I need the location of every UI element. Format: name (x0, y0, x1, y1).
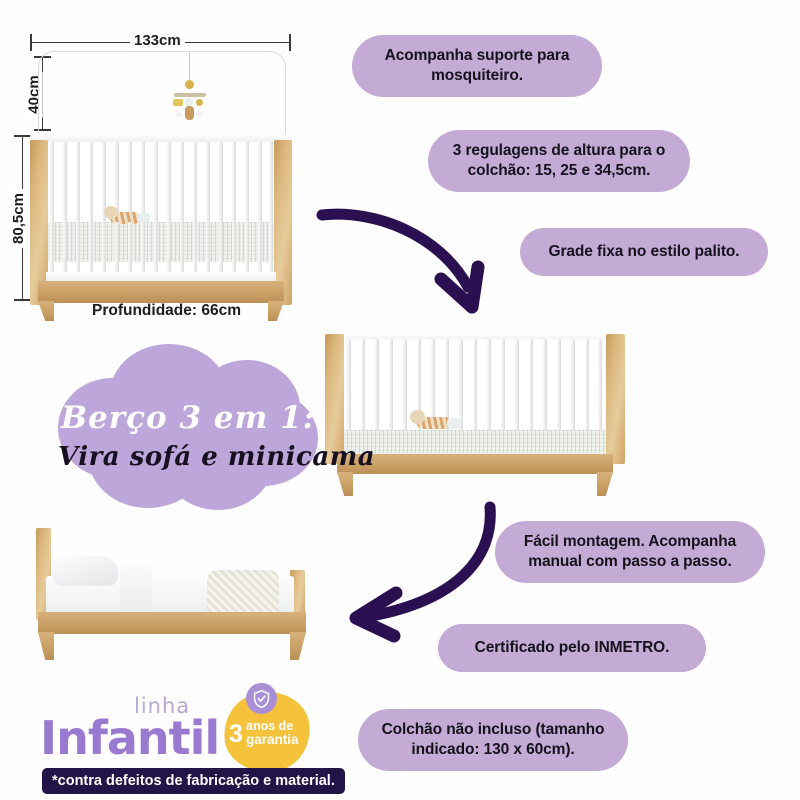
mosquito-net-frame (38, 51, 286, 136)
sofa-back-slats (344, 339, 606, 433)
sofa-base (337, 454, 613, 474)
feature-bubble-mattress-note[interactable]: Colchão não incluso (tamanho indicado: 1… (358, 709, 628, 771)
cloud-title-line1: Berço 3 em 1: (58, 400, 318, 436)
minibed-side-rail (38, 612, 306, 634)
arrow-crib-to-sofa (320, 195, 520, 320)
sofa-right-post (606, 334, 625, 464)
baby-mobile (170, 52, 210, 124)
feature-bubble-mosquito-support[interactable]: Acompanha suporte para mosquiteiro. (352, 35, 602, 97)
depth-caption: Profundidade: 66cm (92, 302, 241, 320)
dimension-width-label: 133cm (130, 32, 185, 49)
arrow-sofa-to-minibed (330, 505, 520, 635)
shield-check-icon (246, 683, 277, 714)
warranty-badge-number: 3 (229, 720, 243, 749)
infographic-canvas: 133cm 40cm 80,5cm (0, 0, 800, 800)
warranty-disclaimer: *contra defeitos de fabricação e materia… (42, 768, 345, 794)
feature-bubble-height-adjust[interactable]: 3 regulagens de altura para o colchão: 1… (428, 130, 690, 192)
crib-front-slats-overlay (48, 222, 274, 274)
sofa-left-foot (337, 472, 353, 496)
crib-base (38, 281, 284, 303)
sofa-daybed (325, 322, 625, 507)
minibed-left-foot (38, 632, 54, 660)
sofa-right-foot (597, 472, 613, 496)
crib-bottom-panel (46, 272, 276, 281)
brand-logo: 3 anos de garantia linha Infantil *contr… (38, 686, 328, 786)
minibed-knit-throw (207, 570, 279, 614)
sofa-mattress (344, 430, 606, 454)
feature-bubble-easy-assembly[interactable]: Fácil montagem. Acompanha manual com pas… (495, 521, 765, 583)
shield-icon-svg (253, 690, 270, 708)
minicama-mini-bed (22, 528, 317, 668)
berco-crib-with-canopy (30, 50, 292, 305)
feature-bubble-fixed-rail[interactable]: Grade fixa no estilo palito. (520, 228, 768, 276)
logo-infantil-text: Infantil (40, 711, 219, 765)
minibed-pillow (52, 556, 118, 586)
cloud-title-line2: Vira sofá e minicama (58, 442, 318, 472)
crib-left-foot (38, 301, 54, 321)
dimension-crib-height-label: 80,5cm (10, 189, 27, 248)
warranty-badge-anos: anos de (246, 719, 293, 733)
warranty-badge-garantia: garantia (246, 732, 299, 747)
minibed-right-foot (290, 632, 306, 660)
sofa-plush-toy (403, 410, 459, 432)
crib-right-foot (268, 301, 284, 321)
cloud-callout: Berço 3 em 1: Vira sofá e minicama (58, 344, 318, 512)
